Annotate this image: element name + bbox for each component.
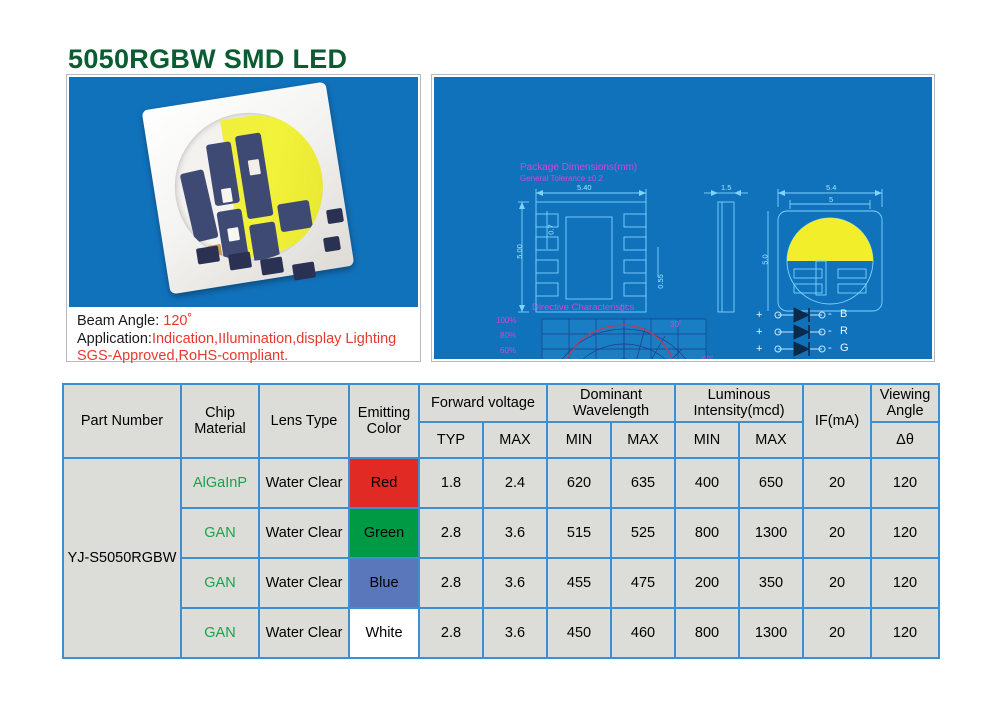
led-top-view-drawing xyxy=(764,177,924,327)
header-if-ma: IF(mA) xyxy=(803,384,871,458)
top-view-inner-width-label: 5 xyxy=(829,195,833,204)
page-title: 5050RGBW SMD LED xyxy=(68,44,347,75)
cell-li-max: 650 xyxy=(739,458,803,508)
cell-lens-type: Water Clear xyxy=(259,458,349,508)
cell-li-max: 1300 xyxy=(739,508,803,558)
cell-fv-max: 3.6 xyxy=(483,508,547,558)
dimension-width-label: 5.40 xyxy=(577,183,592,192)
cell-li-max: 1300 xyxy=(739,608,803,658)
cell-lens-type: Water Clear xyxy=(259,558,349,608)
cell-if-ma: 20 xyxy=(803,558,871,608)
led-trace xyxy=(277,200,313,233)
led-die xyxy=(248,159,261,176)
header-forward-voltage: Forward voltage xyxy=(419,384,547,422)
header-chip-material: Chip Material xyxy=(181,384,259,458)
cell-dw-max: 475 xyxy=(611,558,675,608)
polarity-diagram xyxy=(752,307,892,359)
polarity-minus: - xyxy=(828,342,832,354)
led-product-photo xyxy=(69,77,418,307)
led-die xyxy=(227,227,240,242)
photo-caption: Beam Angle: 120˚ Application:Indication,… xyxy=(69,307,418,366)
cell-fv-max: 3.6 xyxy=(483,608,547,658)
directive-characteristics-polar-chart xyxy=(514,315,734,359)
cell-dw-min: 620 xyxy=(547,458,611,508)
specification-table: Part Number Chip Material Lens Type Emit… xyxy=(62,383,940,659)
cell-fv-typ: 2.8 xyxy=(419,608,483,658)
cell-emitting-color: White xyxy=(349,608,419,658)
solder-pad xyxy=(323,236,341,252)
cell-dw-max: 525 xyxy=(611,508,675,558)
header-viewing-angle: Viewing Angle xyxy=(871,384,939,422)
cell-fv-max: 3.6 xyxy=(483,558,547,608)
cell-dw-max: 635 xyxy=(611,458,675,508)
cell-li-max: 350 xyxy=(739,558,803,608)
beam-angle-label: Beam Angle: xyxy=(77,313,159,329)
polar-ytick: 80% xyxy=(500,331,516,340)
header-dw-max: MAX xyxy=(611,422,675,458)
table-row: GAN Water Clear Blue 2.8 3.6 455 475 200… xyxy=(63,558,939,608)
polar-angle-tick: 30˚ xyxy=(670,320,682,329)
led-die xyxy=(221,188,233,203)
polar-angle-tick: 0˚ xyxy=(620,304,627,313)
top-view-width-label: 5.4 xyxy=(826,183,836,192)
led-reflector-cavity xyxy=(164,102,333,271)
cell-fv-max: 2.4 xyxy=(483,458,547,508)
header-fv-typ: TYP xyxy=(419,422,483,458)
table-row: GAN Water Clear White 2.8 3.6 450 460 80… xyxy=(63,608,939,658)
product-photo-panel: Beam Angle: 120˚ Application:Indication,… xyxy=(66,74,421,362)
cell-dw-max: 460 xyxy=(611,608,675,658)
cell-viewing-angle: 120 xyxy=(871,508,939,558)
cell-viewing-angle: 120 xyxy=(871,608,939,658)
certification-line: SGS-Approved,RoHS-compliant. xyxy=(77,348,418,366)
header-viewing-angle-symbol: Δθ xyxy=(871,422,939,458)
polar-angle-tick: 60˚ xyxy=(702,355,714,359)
dimension-height-label: 5.00 xyxy=(515,244,524,259)
cell-fv-typ: 2.8 xyxy=(419,558,483,608)
cell-fv-typ: 2.8 xyxy=(419,508,483,558)
top-view-height-label: 5.0 xyxy=(761,254,770,264)
technical-drawing-panel: Package Dimensions(mm) General Tolerance… xyxy=(431,74,935,362)
cell-chip-material: GAN xyxy=(181,608,259,658)
polarity-channel-b: B xyxy=(840,308,847,320)
cell-li-min: 800 xyxy=(675,608,739,658)
dimension-pad-gap-label: 0.55 xyxy=(656,274,665,289)
header-emitting-color: Emitting Color xyxy=(349,384,419,458)
cell-emitting-color: Blue xyxy=(349,558,419,608)
cell-chip-material: GAN xyxy=(181,558,259,608)
solder-pad xyxy=(292,261,316,280)
dimension-pad-pitch-label: 0.7 xyxy=(547,224,556,234)
cell-emitting-color: Green xyxy=(349,508,419,558)
header-fv-max: MAX xyxy=(483,422,547,458)
cell-if-ma: 20 xyxy=(803,608,871,658)
cell-dw-min: 455 xyxy=(547,558,611,608)
header-li-min: MIN xyxy=(675,422,739,458)
cell-if-ma: 20 xyxy=(803,508,871,558)
application-value: Indication,IIlumination,display Lighting xyxy=(152,331,396,347)
cell-emitting-color: Red xyxy=(349,458,419,508)
cell-if-ma: 20 xyxy=(803,458,871,508)
polarity-channel-g: G xyxy=(840,342,849,354)
solder-pad xyxy=(196,245,220,264)
polarity-plus: + xyxy=(756,309,762,321)
polarity-minus: - xyxy=(828,325,832,337)
header-dw-min: MIN xyxy=(547,422,611,458)
cell-chip-material: GAN xyxy=(181,508,259,558)
table-row: YJ-S5050RGBW AlGaInP Water Clear Red 1.8… xyxy=(63,458,939,508)
cell-li-min: 200 xyxy=(675,558,739,608)
table-header-row-top: Part Number Chip Material Lens Type Emit… xyxy=(63,384,939,422)
cell-lens-type: Water Clear xyxy=(259,608,349,658)
application-label: Application: xyxy=(77,331,152,347)
cell-fv-typ: 1.8 xyxy=(419,458,483,508)
application-line: Application:Indication,IIlumination,disp… xyxy=(77,331,418,349)
header-luminous-intensity: Luminous Intensity(mcd) xyxy=(675,384,803,422)
cell-part-number: YJ-S5050RGBW xyxy=(63,458,181,658)
technical-drawing-canvas: Package Dimensions(mm) General Tolerance… xyxy=(434,77,932,359)
polarity-plus: + xyxy=(756,343,762,355)
cell-li-min: 400 xyxy=(675,458,739,508)
polarity-channel-r: R xyxy=(840,325,848,337)
beam-angle-value: 120˚ xyxy=(163,313,192,329)
cell-li-min: 800 xyxy=(675,508,739,558)
cell-viewing-angle: 120 xyxy=(871,458,939,508)
header-lens-type: Lens Type xyxy=(259,384,349,458)
polar-ytick: 100% xyxy=(496,316,516,325)
table-row: GAN Water Clear Green 2.8 3.6 515 525 80… xyxy=(63,508,939,558)
header-dominant-wavelength: Dominant Wavelength xyxy=(547,384,675,422)
header-li-max: MAX xyxy=(739,422,803,458)
solder-pad xyxy=(260,256,284,275)
cell-dw-min: 515 xyxy=(547,508,611,558)
dimension-thickness-label: 1.5 xyxy=(721,183,731,192)
beam-angle-line: Beam Angle: 120˚ xyxy=(77,313,418,331)
cell-viewing-angle: 120 xyxy=(871,558,939,608)
polar-ytick: 60% xyxy=(500,346,516,355)
polarity-plus: + xyxy=(756,326,762,338)
cell-chip-material: AlGaInP xyxy=(181,458,259,508)
solder-pad xyxy=(326,208,344,224)
cell-dw-min: 450 xyxy=(547,608,611,658)
header-part-number: Part Number xyxy=(63,384,181,458)
solder-pad xyxy=(228,251,252,270)
cell-lens-type: Water Clear xyxy=(259,508,349,558)
polarity-minus: - xyxy=(828,308,832,320)
